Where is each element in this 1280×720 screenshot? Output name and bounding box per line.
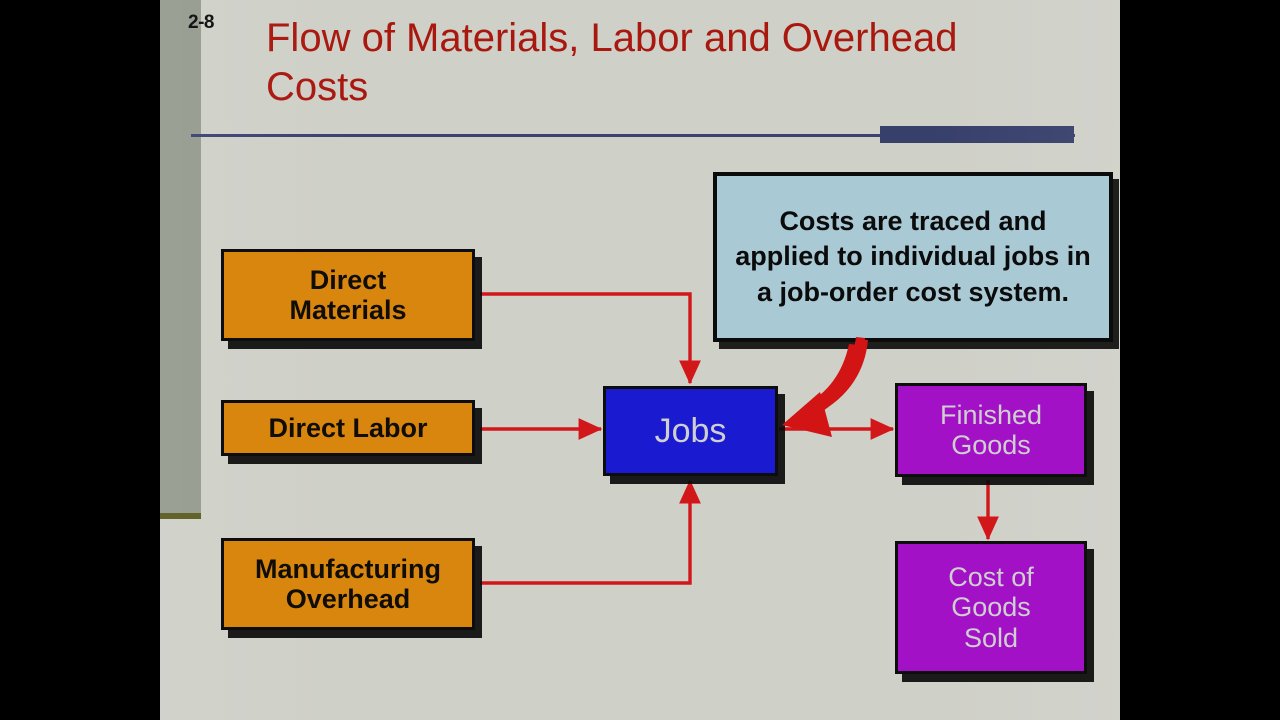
page-title: Flow of Materials, Labor and Overhead Co… <box>266 14 1026 112</box>
node-direct-labor[interactable]: Direct Labor <box>221 400 475 456</box>
node-direct-labor-label: Direct Labor <box>268 413 427 443</box>
slide-number: 2-8 <box>188 12 214 34</box>
node-direct-materials[interactable]: Direct Materials <box>221 249 475 341</box>
callout-box: Costs are traced and applied to individu… <box>713 172 1113 342</box>
connector-manufacturing-overhead-to-jobs <box>480 481 690 583</box>
node-jobs[interactable]: Jobs <box>603 386 778 476</box>
node-direct-materials-label: Direct Materials <box>289 265 406 325</box>
left-band-rule <box>160 513 201 519</box>
slide-root: 2-8 Flow of Materials, Labor and Overhea… <box>0 0 1280 720</box>
node-cost-of-goods-sold-label: Cost of Goods Sold <box>948 562 1034 653</box>
node-cost-of-goods-sold[interactable]: Cost of Goods Sold <box>895 541 1087 674</box>
connector-direct-materials-to-jobs <box>480 294 690 383</box>
callout-text: Costs are traced and applied to individu… <box>717 204 1109 309</box>
header-accent-block <box>880 126 1074 143</box>
node-jobs-label: Jobs <box>655 412 727 450</box>
node-manufacturing-overhead-label: Manufacturing Overhead <box>255 554 441 614</box>
left-decorative-band <box>160 0 201 513</box>
node-manufacturing-overhead[interactable]: Manufacturing Overhead <box>221 538 475 630</box>
slide-canvas: 2-8 Flow of Materials, Labor and Overhea… <box>160 0 1120 720</box>
node-finished-goods[interactable]: Finished Goods <box>895 383 1087 477</box>
curved-red-arrow-icon <box>782 337 868 437</box>
node-finished-goods-label: Finished Goods <box>940 400 1042 460</box>
